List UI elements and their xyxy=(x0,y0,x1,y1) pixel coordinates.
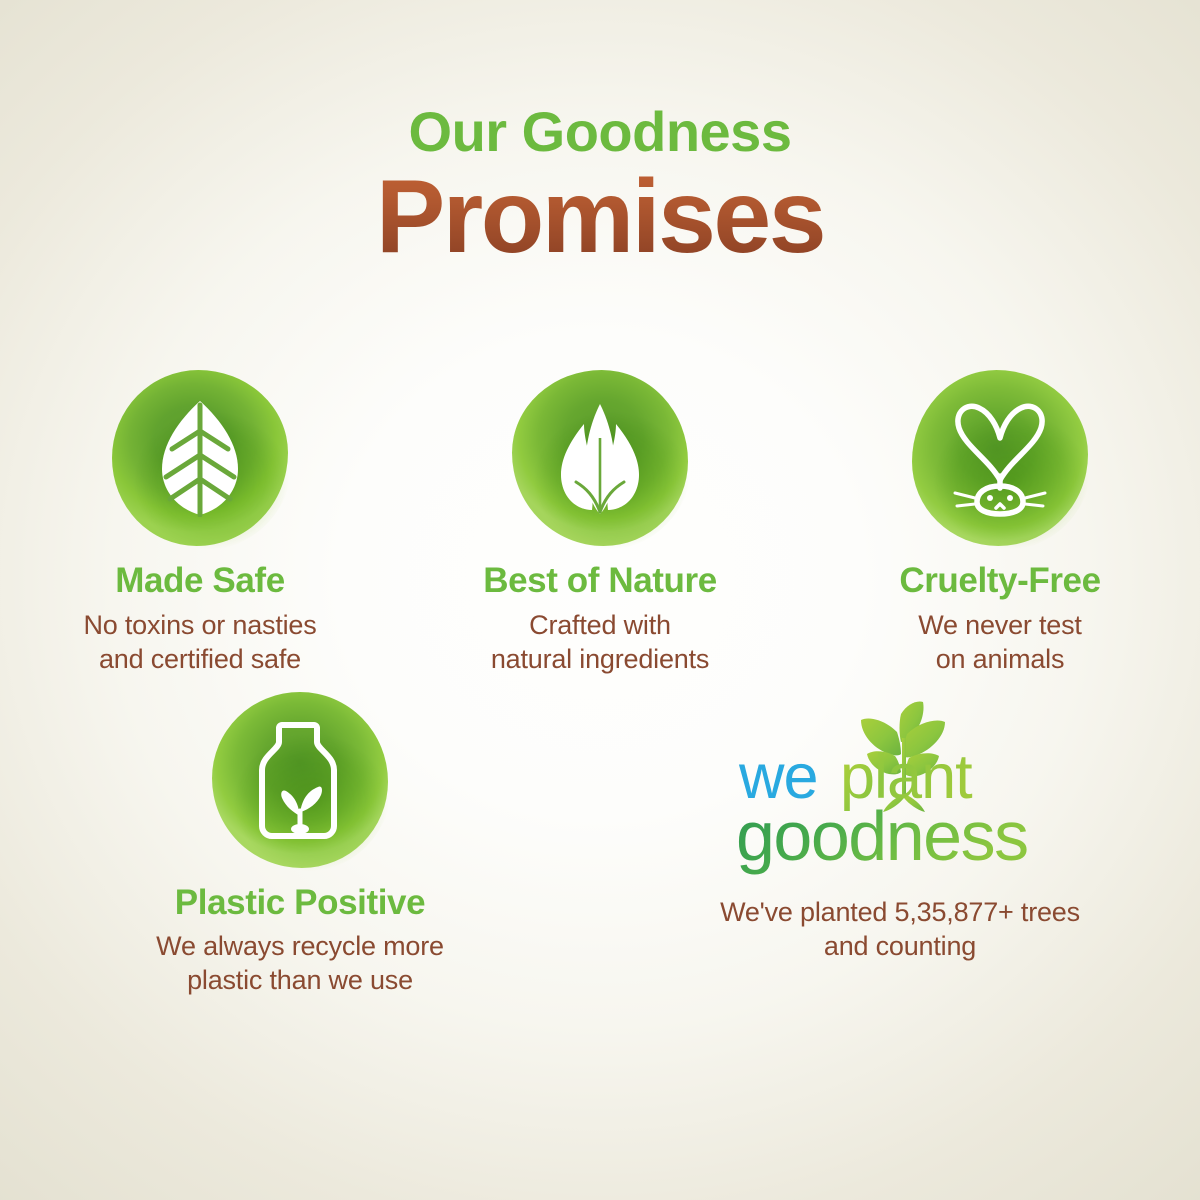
promise-description-line: on animals xyxy=(918,642,1081,676)
promise-description-line: natural ingredients xyxy=(491,642,709,676)
promise-description: We never test on animals xyxy=(918,608,1081,676)
we-plant-goodness-logo: we plant goodness xyxy=(735,698,1065,883)
promise-description-line: We never test xyxy=(918,608,1081,642)
leaf-icon xyxy=(148,399,252,517)
bunny-heart-icon xyxy=(941,398,1059,518)
promise-title: Plastic Positive xyxy=(175,884,425,923)
we-plant-goodness-card: we plant goodness We've planted 5,35,877… xyxy=(600,692,1200,998)
promise-description-line: We always recycle more xyxy=(156,929,444,963)
page-title-eyebrow: Our Goodness xyxy=(0,104,1200,160)
logo-word-goodness: goodness xyxy=(736,797,1028,875)
promise-card-plastic-positive: Plastic Positive We always recycle more … xyxy=(0,692,600,998)
promise-description-line: No toxins or nasties xyxy=(83,608,316,642)
promise-card-best-of-nature: Best of Nature Crafted with natural ingr… xyxy=(400,370,800,676)
promise-title: Best of Nature xyxy=(483,562,717,601)
made-safe-badge xyxy=(112,370,288,546)
we-plant-goodness-description-line: and counting xyxy=(720,929,1080,963)
three-leaves-icon xyxy=(544,398,656,518)
page-title: Promises xyxy=(0,164,1200,270)
promise-description: We always recycle more plastic than we u… xyxy=(156,929,444,997)
we-plant-goodness-logo-svg: we plant goodness xyxy=(735,698,1065,888)
page-header: Our Goodness Promises xyxy=(0,0,1200,270)
promise-card-made-safe: Made Safe No toxins or nasties and certi… xyxy=(0,370,400,676)
promise-title: Cruelty-Free xyxy=(899,562,1100,601)
we-plant-goodness-description-line: We've planted 5,35,877+ trees xyxy=(720,895,1080,929)
promise-card-cruelty-free: Cruelty-Free We never test on animals xyxy=(800,370,1200,676)
cruelty-free-badge xyxy=(912,370,1088,546)
promises-row-1: Made Safe No toxins or nasties and certi… xyxy=(0,370,1200,676)
promise-description-line: plastic than we use xyxy=(156,963,444,997)
plastic-positive-badge xyxy=(212,692,388,868)
promise-description: Crafted with natural ingredients xyxy=(491,608,709,676)
promise-description: No toxins or nasties and certified safe xyxy=(83,608,316,676)
promise-title: Made Safe xyxy=(115,562,285,601)
promises-row-2: Plastic Positive We always recycle more … xyxy=(0,692,1200,998)
promise-description-line: Crafted with xyxy=(491,608,709,642)
best-of-nature-badge xyxy=(512,370,688,546)
we-plant-goodness-description: We've planted 5,35,877+ trees and counti… xyxy=(720,895,1080,963)
bottle-sprout-icon xyxy=(252,719,348,841)
promises-grid: Made Safe No toxins or nasties and certi… xyxy=(0,370,1200,997)
promise-description-line: and certified safe xyxy=(83,642,316,676)
